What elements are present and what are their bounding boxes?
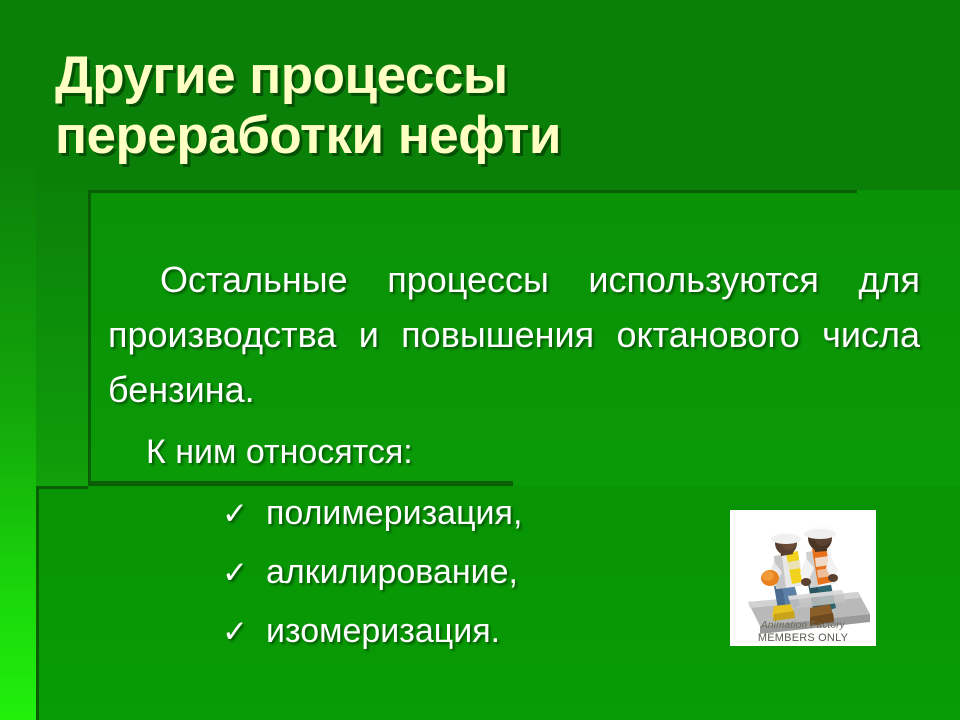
list-item: ✓ полимеризация, bbox=[222, 494, 522, 553]
list-item: ✓ алкилирование, bbox=[222, 553, 522, 612]
clipart-caption-line1: Animation Factory bbox=[730, 620, 876, 632]
lower-panel-left-border bbox=[36, 486, 39, 720]
checkmark-icon: ✓ bbox=[222, 496, 266, 532]
slide-canvas: Другие процессы переработки нефти Осталь… bbox=[0, 0, 960, 720]
left-accent-band-bright bbox=[0, 0, 36, 720]
list-item-label: алкилирование, bbox=[266, 553, 518, 592]
list-item: ✓ изомеризация. bbox=[222, 612, 522, 671]
checkmark-icon: ✓ bbox=[222, 555, 266, 591]
list-item-label: изомеризация. bbox=[266, 612, 500, 651]
lower-panel-top-border bbox=[36, 486, 88, 489]
list-lead-in-text: К ним относятся: bbox=[146, 430, 413, 474]
slide-title: Другие процессы переработки нефти bbox=[55, 46, 915, 166]
construction-workers-clipart: Animation Factory MEMBERS ONLY bbox=[730, 510, 876, 646]
clipart-caption-line2: MEMBERS ONLY bbox=[730, 632, 876, 644]
checkmark-icon: ✓ bbox=[222, 614, 266, 650]
upper-panel-left-border bbox=[88, 190, 91, 486]
clipart-watermark-caption: Animation Factory MEMBERS ONLY bbox=[730, 620, 876, 644]
section-divider-rule bbox=[91, 481, 513, 486]
list-item-label: полимеризация, bbox=[266, 494, 522, 533]
bullet-list: ✓ полимеризация, ✓ алкилирование, ✓ изом… bbox=[222, 494, 522, 671]
upper-panel-top-border bbox=[88, 190, 857, 193]
